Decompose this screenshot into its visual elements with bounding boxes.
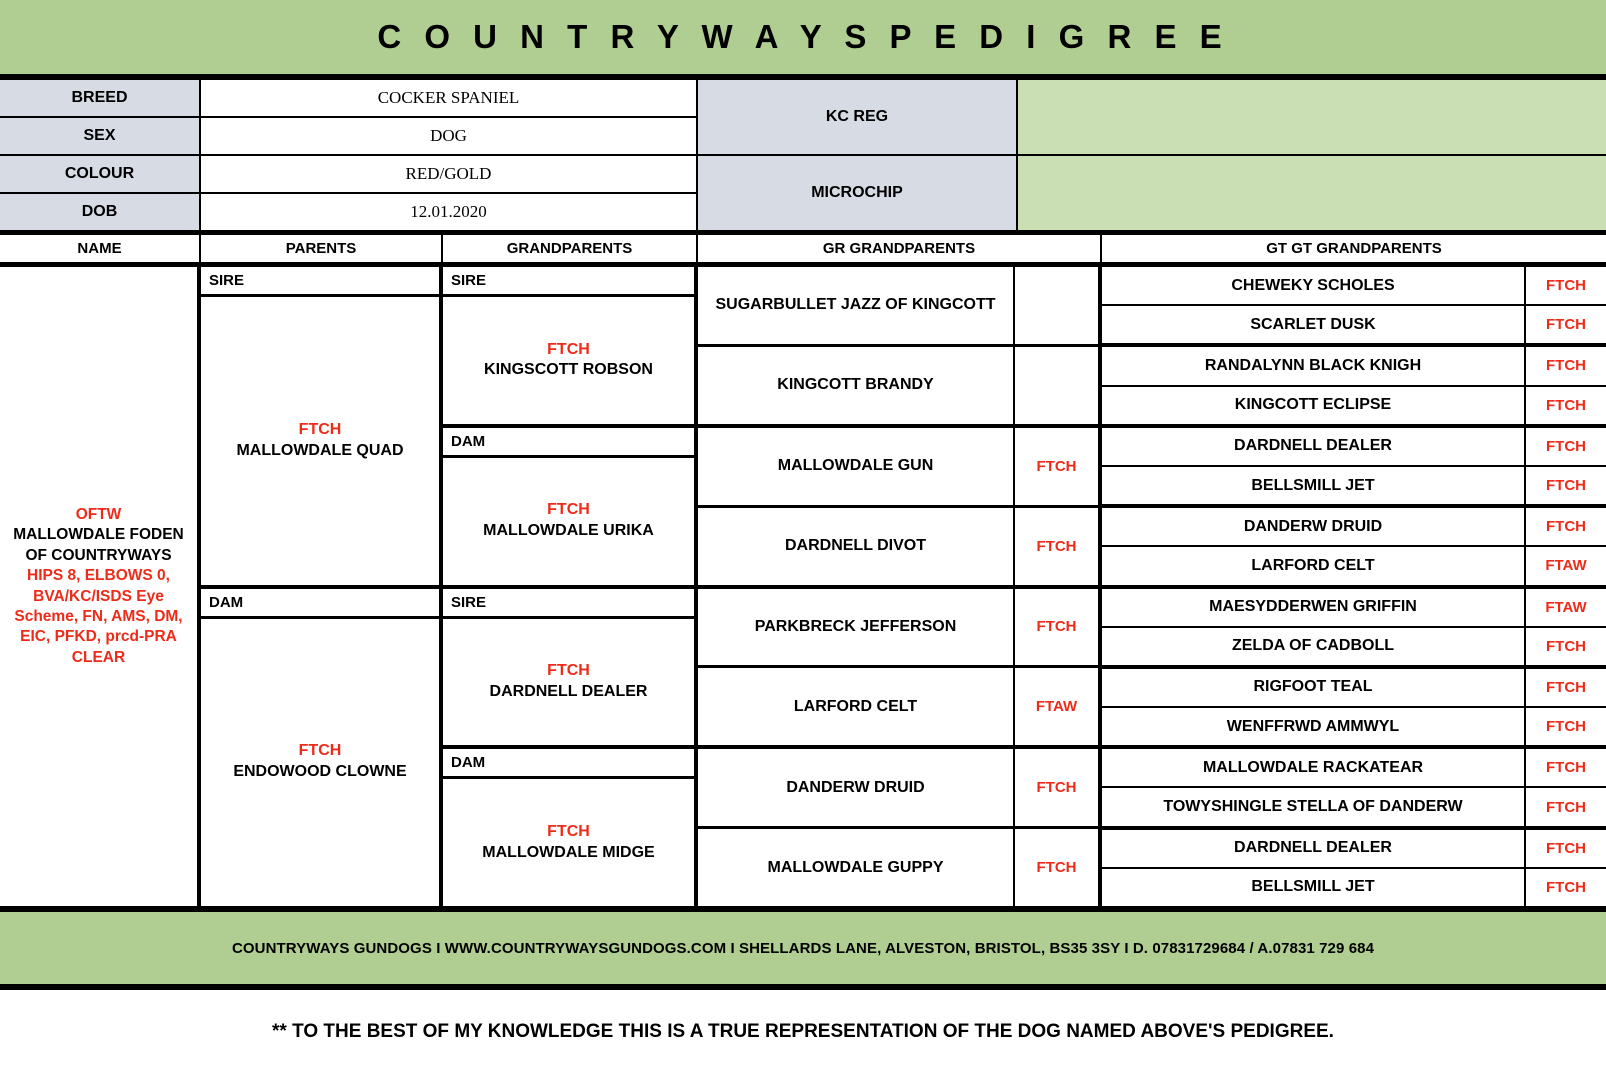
- gt-gt-title-8: FTAW: [1526, 589, 1606, 626]
- info-block: BREED COCKER SPANIEL SEX DOG COLOUR RED/…: [0, 80, 1606, 235]
- gt-gt-row-14: DARDNELL DEALER FTCH: [1102, 830, 1606, 867]
- gr-grandparent-row-6: DANDERW DRUID FTCH: [698, 749, 1098, 826]
- gt-gt-name-7: LARFORD CELT: [1102, 547, 1526, 584]
- gr-grandparent-row-1: KINGCOTT BRANDY: [698, 344, 1098, 424]
- gr-grandparent-group-3: DANDERW DRUID FTCH MALLOWDALE GUPPY FTCH: [698, 745, 1098, 906]
- gr-grandparent-title-7: FTCH: [1015, 829, 1098, 906]
- grandparents-column: SIRE FTCH KINGSCOTT ROBSON DAM FTCH MALL…: [443, 267, 698, 906]
- parents-column: SIRE FTCH MALLOWDALE QUAD DAM FTCH ENDOW…: [201, 267, 443, 906]
- gt-gt-grandparents-column: CHEWEKY SCHOLES FTCH SCARLET DUSK FTCH R…: [1102, 267, 1606, 906]
- breed-value: COCKER SPANIEL: [201, 80, 698, 116]
- gt-gt-pair-4: MAESYDDERWEN GRIFFIN FTAW ZELDA OF CADBO…: [1102, 585, 1606, 665]
- footer-contact-text: COUNTRYWAYS GUNDOGS I WWW.COUNTRYWAYSGUN…: [232, 940, 1374, 957]
- gt-gt-title-1: FTCH: [1526, 306, 1606, 343]
- gr-grandparent-row-4: PARKBRECK JEFFERSON FTCH: [698, 589, 1098, 666]
- footer-contact-band: COUNTRYWAYS GUNDOGS I WWW.COUNTRYWAYSGUN…: [0, 912, 1606, 990]
- gt-gt-name-8: MAESYDDERWEN GRIFFIN: [1102, 589, 1526, 626]
- gr-grandparent-title-3: FTCH: [1015, 508, 1098, 585]
- gt-gt-row-13: TOWYSHINGLE STELLA OF DANDERW FTCH: [1102, 786, 1606, 825]
- subject-column: OFTW MALLOWDALE FODEN OF COUNTRYWAYS HIP…: [0, 267, 201, 906]
- grandparent-block-1: SIRE FTCH DARDNELL DEALER DAM FTCH MALLO…: [443, 585, 694, 907]
- colour-value: RED/GOLD: [201, 156, 698, 192]
- parent-sire-name: MALLOWDALE QUAD: [236, 441, 403, 462]
- gt-gt-name-6: DANDERW DRUID: [1102, 508, 1526, 545]
- subject-health-clearances: HIPS 8, ELBOWS 0, BVA/KC/ISDS Eye Scheme…: [4, 566, 193, 668]
- gt-gt-row-5: BELLSMILL JET FTCH: [1102, 465, 1606, 504]
- gr-grandparent-name-5: LARFORD CELT: [698, 668, 1015, 745]
- gt-gt-name-9: ZELDA OF CADBOLL: [1102, 628, 1526, 665]
- grandparent-cell-3: FTCH MALLOWDALE MIDGE: [443, 779, 694, 906]
- info-left-group: BREED COCKER SPANIEL SEX DOG COLOUR RED/…: [0, 80, 698, 230]
- gt-gt-name-12: MALLOWDALE RACKATEAR: [1102, 749, 1526, 786]
- dob-value: 12.01.2020: [201, 194, 698, 230]
- subject-name-line1: MALLOWDALE FODEN: [4, 525, 193, 545]
- kc-reg-value: [1018, 80, 1606, 154]
- parent-sire-cell: FTCH MALLOWDALE QUAD: [201, 297, 439, 585]
- column-header-gt-gt-grandparents: GT GT GRANDPARENTS: [1102, 235, 1606, 262]
- grandparent-block-0: SIRE FTCH KINGSCOTT ROBSON DAM FTCH MALL…: [443, 267, 694, 585]
- gt-gt-name-4: DARDNELL DEALER: [1102, 428, 1526, 465]
- gr-grandparent-name-0: SUGARBULLET JAZZ OF KINGCOTT: [698, 267, 1015, 344]
- gt-gt-row-8: MAESYDDERWEN GRIFFIN FTAW: [1102, 589, 1606, 626]
- column-header-gr-grandparents: GR GRANDPARENTS: [698, 235, 1102, 262]
- gt-gt-pair-0: CHEWEKY SCHOLES FTCH SCARLET DUSK FTCH: [1102, 267, 1606, 343]
- grandparent-sub-1: DAM FTCH MALLOWDALE URIKA: [443, 424, 694, 585]
- parent-dam-cell: FTCH ENDOWOOD CLOWNE: [201, 619, 439, 907]
- grandparent-sub-0: SIRE FTCH KINGSCOTT ROBSON: [443, 267, 694, 424]
- gt-gt-name-10: RIGFOOT TEAL: [1102, 669, 1526, 706]
- gt-gt-pair-3: DANDERW DRUID FTCH LARFORD CELT FTAW: [1102, 504, 1606, 584]
- microchip-value: [1018, 156, 1606, 230]
- gt-gt-title-4: FTCH: [1526, 428, 1606, 465]
- gr-grandparent-row-2: MALLOWDALE GUN FTCH: [698, 428, 1098, 505]
- parent-sire-title: FTCH: [236, 420, 403, 441]
- gt-gt-title-9: FTCH: [1526, 628, 1606, 665]
- grandparent-title-1: FTCH: [483, 500, 654, 521]
- gt-gt-row-11: WENFFRWD AMMWYL FTCH: [1102, 706, 1606, 745]
- gr-grandparent-row-5: LARFORD CELT FTAW: [698, 665, 1098, 745]
- gt-gt-name-14: DARDNELL DEALER: [1102, 830, 1526, 867]
- grandparent-role-2: SIRE: [443, 589, 694, 619]
- info-row-kc-reg: KC REG: [698, 80, 1606, 154]
- grandparent-cell-0: FTCH KINGSCOTT ROBSON: [443, 297, 694, 424]
- column-header-grandparents: GRANDPARENTS: [443, 235, 698, 262]
- subject-dog: OFTW MALLOWDALE FODEN OF COUNTRYWAYS HIP…: [4, 505, 193, 669]
- grandparent-name-0: KINGSCOTT ROBSON: [484, 360, 653, 381]
- gt-gt-pair-1: RANDALYNN BLACK KNIGH FTCH KINGCOTT ECLI…: [1102, 343, 1606, 423]
- grandparent-name-1: MALLOWDALE URIKA: [483, 521, 654, 542]
- gt-gt-name-15: BELLSMILL JET: [1102, 869, 1526, 906]
- gt-gt-title-10: FTCH: [1526, 669, 1606, 706]
- gt-gt-pair-6: MALLOWDALE RACKATEAR FTCH TOWYSHINGLE ST…: [1102, 745, 1606, 825]
- grandparent-role-0: SIRE: [443, 267, 694, 297]
- disclaimer-text: ** TO THE BEST OF MY KNOWLEDGE THIS IS A…: [272, 1021, 1334, 1043]
- grandparent-name-3: MALLOWDALE MIDGE: [482, 843, 654, 864]
- gt-gt-title-3: FTCH: [1526, 387, 1606, 424]
- parent-sire-role: SIRE: [201, 267, 439, 297]
- breed-label: BREED: [0, 80, 201, 116]
- gt-gt-name-2: RANDALYNN BLACK KNIGH: [1102, 347, 1526, 384]
- sex-value: DOG: [201, 118, 698, 154]
- column-header-parents: PARENTS: [201, 235, 443, 262]
- gt-gt-pair-7: DARDNELL DEALER FTCH BELLSMILL JET FTCH: [1102, 826, 1606, 906]
- gr-grandparent-row-0: SUGARBULLET JAZZ OF KINGCOTT: [698, 267, 1098, 344]
- grandparent-title-3: FTCH: [482, 822, 654, 843]
- gr-grandparent-group-0: SUGARBULLET JAZZ OF KINGCOTT KINGCOTT BR…: [698, 267, 1098, 424]
- gt-gt-title-0: FTCH: [1526, 267, 1606, 304]
- gt-gt-title-14: FTCH: [1526, 830, 1606, 867]
- gr-grandparent-title-5: FTAW: [1015, 668, 1098, 745]
- gt-gt-title-11: FTCH: [1526, 708, 1606, 745]
- gt-gt-row-0: CHEWEKY SCHOLES FTCH: [1102, 267, 1606, 304]
- info-row-sex: SEX DOG: [0, 116, 698, 154]
- grandparent-role-1: DAM: [443, 428, 694, 458]
- gr-grandparent-title-2: FTCH: [1015, 428, 1098, 505]
- gt-gt-pair-2: DARDNELL DEALER FTCH BELLSMILL JET FTCH: [1102, 424, 1606, 504]
- gt-gt-row-6: DANDERW DRUID FTCH: [1102, 508, 1606, 545]
- subject-title: OFTW: [4, 505, 193, 525]
- gr-grandparent-name-6: DANDERW DRUID: [698, 749, 1015, 826]
- parent-dam-title: FTCH: [233, 741, 406, 762]
- parent-sire-block: SIRE FTCH MALLOWDALE QUAD: [201, 267, 439, 585]
- gr-grandparent-title-0: [1015, 267, 1098, 344]
- info-row-breed: BREED COCKER SPANIEL: [0, 80, 698, 116]
- grandparent-title-0: FTCH: [484, 340, 653, 361]
- gt-gt-name-13: TOWYSHINGLE STELLA OF DANDERW: [1102, 788, 1526, 825]
- kc-reg-label: KC REG: [698, 80, 1018, 154]
- grandparent-title-2: FTCH: [490, 661, 648, 682]
- parent-dam-block: DAM FTCH ENDOWOOD CLOWNE: [201, 585, 439, 907]
- dob-label: DOB: [0, 194, 201, 230]
- gr-grandparent-title-6: FTCH: [1015, 749, 1098, 826]
- grandparent-sub-3: DAM FTCH MALLOWDALE MIDGE: [443, 745, 694, 906]
- info-row-dob: DOB 12.01.2020: [0, 192, 698, 230]
- sex-label: SEX: [0, 118, 201, 154]
- gt-gt-title-12: FTCH: [1526, 749, 1606, 786]
- gt-gt-name-0: CHEWEKY SCHOLES: [1102, 267, 1526, 304]
- gr-grandparent-row-3: DARDNELL DIVOT FTCH: [698, 505, 1098, 585]
- pedigree-grid: OFTW MALLOWDALE FODEN OF COUNTRYWAYS HIP…: [0, 267, 1606, 912]
- page-title: C O U N T R Y W A Y S P E D I G R E E: [377, 18, 1228, 56]
- gt-gt-name-3: KINGCOTT ECLIPSE: [1102, 387, 1526, 424]
- info-right-group: KC REG MICROCHIP: [698, 80, 1606, 230]
- gt-gt-pair-5: RIGFOOT TEAL FTCH WENFFRWD AMMWYL FTCH: [1102, 665, 1606, 745]
- grandparent-cell-2: FTCH DARDNELL DEALER: [443, 619, 694, 746]
- gt-gt-name-11: WENFFRWD AMMWYL: [1102, 708, 1526, 745]
- title-band: C O U N T R Y W A Y S P E D I G R E E: [0, 0, 1606, 80]
- gr-grandparent-title-4: FTCH: [1015, 589, 1098, 666]
- column-header-name: NAME: [0, 235, 201, 262]
- gr-grandparent-group-1: MALLOWDALE GUN FTCH DARDNELL DIVOT FTCH: [698, 424, 1098, 585]
- gt-gt-title-7: FTAW: [1526, 547, 1606, 584]
- parent-dam-role: DAM: [201, 589, 439, 619]
- gt-gt-title-6: FTCH: [1526, 508, 1606, 545]
- gt-gt-row-7: LARFORD CELT FTAW: [1102, 545, 1606, 584]
- gt-gt-row-2: RANDALYNN BLACK KNIGH FTCH: [1102, 347, 1606, 384]
- gr-grandparent-group-2: PARKBRECK JEFFERSON FTCH LARFORD CELT FT…: [698, 585, 1098, 746]
- gr-grandparent-title-1: [1015, 347, 1098, 424]
- gt-gt-row-3: KINGCOTT ECLIPSE FTCH: [1102, 385, 1606, 424]
- gt-gt-name-5: BELLSMILL JET: [1102, 467, 1526, 504]
- pedigree-document: C O U N T R Y W A Y S P E D I G R E E BR…: [0, 0, 1606, 1074]
- grandparent-cell-1: FTCH MALLOWDALE URIKA: [443, 458, 694, 585]
- parent-dam-name: ENDOWOOD CLOWNE: [233, 762, 406, 783]
- gt-gt-title-5: FTCH: [1526, 467, 1606, 504]
- gr-grandparent-name-4: PARKBRECK JEFFERSON: [698, 589, 1015, 666]
- subject-name-line2: OF COUNTRYWAYS: [4, 546, 193, 566]
- grandparent-sub-2: SIRE FTCH DARDNELL DEALER: [443, 589, 694, 746]
- grandparent-name-2: DARDNELL DEALER: [490, 682, 648, 703]
- gr-grandparent-row-7: MALLOWDALE GUPPY FTCH: [698, 826, 1098, 906]
- colour-label: COLOUR: [0, 156, 201, 192]
- gr-grandparent-name-7: MALLOWDALE GUPPY: [698, 829, 1015, 906]
- gr-grandparent-name-1: KINGCOTT BRANDY: [698, 347, 1015, 424]
- gr-grandparents-column: SUGARBULLET JAZZ OF KINGCOTT KINGCOTT BR…: [698, 267, 1102, 906]
- gt-gt-row-15: BELLSMILL JET FTCH: [1102, 867, 1606, 906]
- gt-gt-title-15: FTCH: [1526, 869, 1606, 906]
- gt-gt-row-12: MALLOWDALE RACKATEAR FTCH: [1102, 749, 1606, 786]
- gr-grandparent-name-2: MALLOWDALE GUN: [698, 428, 1015, 505]
- grandparent-role-3: DAM: [443, 749, 694, 779]
- gt-gt-row-9: ZELDA OF CADBOLL FTCH: [1102, 626, 1606, 665]
- info-row-microchip: MICROCHIP: [698, 154, 1606, 230]
- pedigree-column-headers: NAME PARENTS GRANDPARENTS GR GRANDPARENT…: [0, 235, 1606, 267]
- gt-gt-row-1: SCARLET DUSK FTCH: [1102, 304, 1606, 343]
- microchip-label: MICROCHIP: [698, 156, 1018, 230]
- gt-gt-title-2: FTCH: [1526, 347, 1606, 384]
- gt-gt-row-4: DARDNELL DEALER FTCH: [1102, 428, 1606, 465]
- disclaimer-band: ** TO THE BEST OF MY KNOWLEDGE THIS IS A…: [0, 990, 1606, 1074]
- gr-grandparent-name-3: DARDNELL DIVOT: [698, 508, 1015, 585]
- info-row-colour: COLOUR RED/GOLD: [0, 154, 698, 192]
- gt-gt-title-13: FTCH: [1526, 788, 1606, 825]
- gt-gt-row-10: RIGFOOT TEAL FTCH: [1102, 669, 1606, 706]
- gt-gt-name-1: SCARLET DUSK: [1102, 306, 1526, 343]
